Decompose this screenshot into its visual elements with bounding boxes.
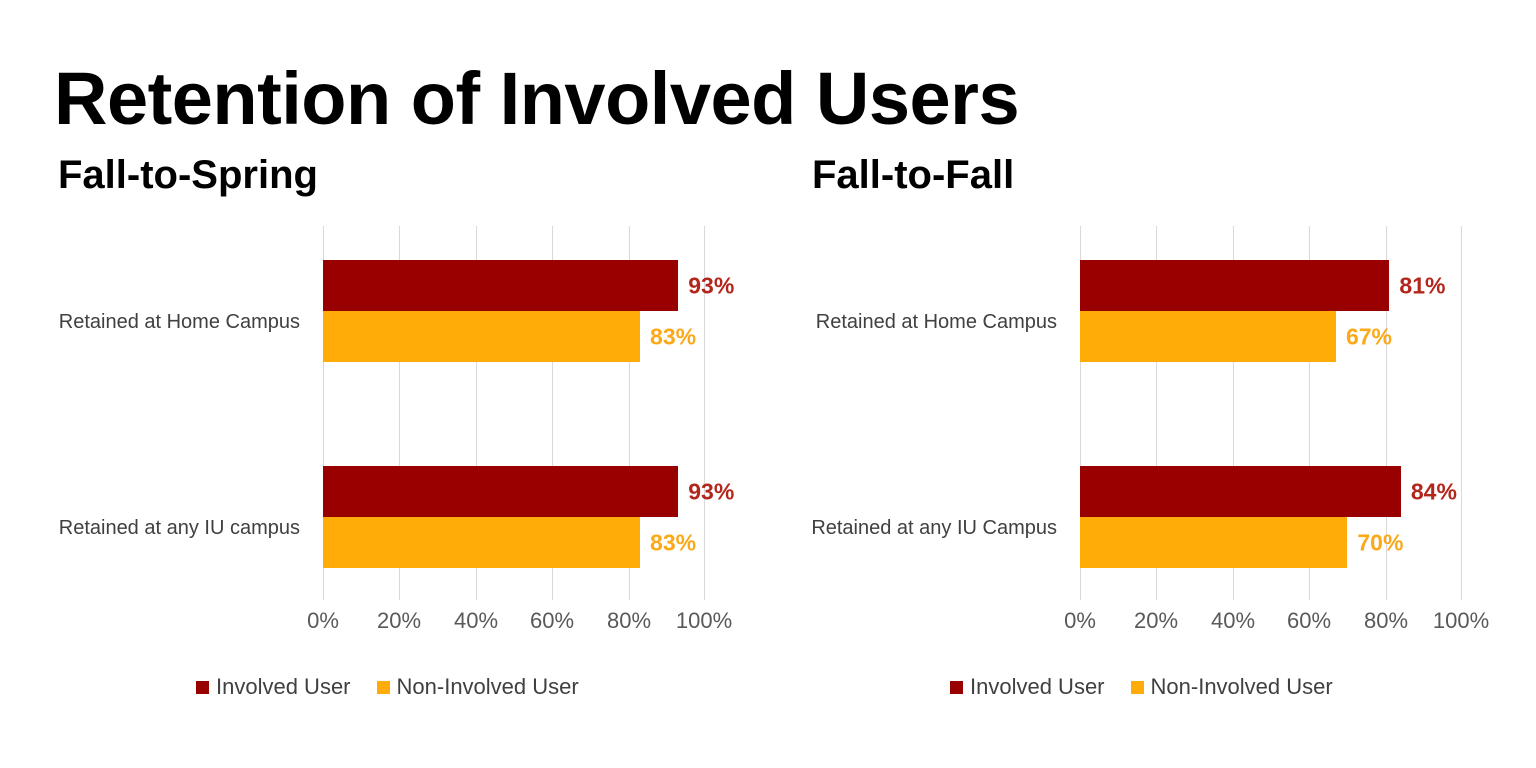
bar-row: 83% xyxy=(323,517,705,568)
bar-involved[interactable] xyxy=(1080,260,1389,311)
category-label: Retained at Home Campus xyxy=(59,311,300,334)
bar-row: 81% xyxy=(1080,260,1462,311)
legend-label: Non-Involved User xyxy=(397,674,579,700)
bar-row: 83% xyxy=(323,311,705,362)
bar-value-label: 81% xyxy=(1399,272,1445,299)
bar-non-involved[interactable] xyxy=(323,311,640,362)
bar-group: 93% 83% xyxy=(323,466,705,568)
legend-swatch-icon xyxy=(950,681,963,694)
bar-involved[interactable] xyxy=(1080,466,1401,517)
bar-value-label: 93% xyxy=(688,478,734,505)
x-tick-label: 40% xyxy=(1211,608,1255,634)
chart-subtitle-fall-to-fall: Fall-to-Fall xyxy=(812,155,1014,195)
bar-value-label: 70% xyxy=(1357,529,1403,556)
bar-non-involved[interactable] xyxy=(323,517,640,568)
legend-swatch-icon xyxy=(196,681,209,694)
legend-label: Involved User xyxy=(970,674,1105,700)
bar-involved[interactable] xyxy=(323,260,678,311)
bar-row: 93% xyxy=(323,260,705,311)
legend-label: Involved User xyxy=(216,674,351,700)
x-tick-label: 0% xyxy=(1064,608,1096,634)
bar-involved[interactable] xyxy=(323,466,678,517)
bar-group: 84% 70% xyxy=(1080,466,1462,568)
chart-fall-to-fall: Retained at Home Campus Retained at any … xyxy=(775,226,1520,716)
page-title: Retention of Involved Users xyxy=(54,62,1019,136)
bar-value-label: 83% xyxy=(650,323,696,350)
legend-item-involved-user[interactable]: Involved User xyxy=(950,674,1105,700)
x-axis-ticks: 0% 20% 40% 60% 80% 100% xyxy=(1080,608,1462,642)
bar-value-label: 67% xyxy=(1346,323,1392,350)
legend-item-non-involved-user[interactable]: Non-Involved User xyxy=(377,674,579,700)
plot-area: 93% 83% 93% 83% 0% 20% xyxy=(323,226,705,600)
bar-value-label: 83% xyxy=(650,529,696,556)
bar-row: 93% xyxy=(323,466,705,517)
legend-item-non-involved-user[interactable]: Non-Involved User xyxy=(1131,674,1333,700)
x-tick-label: 80% xyxy=(607,608,651,634)
x-tick-label: 80% xyxy=(1364,608,1408,634)
x-tick-label: 20% xyxy=(377,608,421,634)
bar-row: 84% xyxy=(1080,466,1462,517)
x-tick-label: 60% xyxy=(1287,608,1331,634)
x-tick-label: 20% xyxy=(1134,608,1178,634)
bar-group: 93% 83% xyxy=(323,260,705,362)
x-tick-label: 100% xyxy=(1433,608,1489,634)
chart-legend: Involved User Non-Involved User xyxy=(196,674,579,700)
plot-area: 81% 67% 84% 70% 0% 20% xyxy=(1080,226,1462,600)
legend-swatch-icon xyxy=(1131,681,1144,694)
chart-fall-to-spring: Retained at Home Campus Retained at any … xyxy=(20,226,760,716)
chart-subtitle-fall-to-spring: Fall-to-Spring xyxy=(58,155,318,195)
legend-label: Non-Involved User xyxy=(1151,674,1333,700)
bar-non-involved[interactable] xyxy=(1080,517,1347,568)
category-label: Retained at any IU campus xyxy=(59,517,300,540)
x-tick-label: 60% xyxy=(530,608,574,634)
chart-legend: Involved User Non-Involved User xyxy=(950,674,1333,700)
bar-group: 81% 67% xyxy=(1080,260,1462,362)
bar-value-label: 93% xyxy=(688,272,734,299)
category-label: Retained at Home Campus xyxy=(816,311,1057,334)
bar-row: 70% xyxy=(1080,517,1462,568)
legend-swatch-icon xyxy=(377,681,390,694)
x-tick-label: 40% xyxy=(454,608,498,634)
bar-non-involved[interactable] xyxy=(1080,311,1336,362)
legend-item-involved-user[interactable]: Involved User xyxy=(196,674,351,700)
category-label: Retained at any IU Campus xyxy=(811,517,1057,540)
bar-value-label: 84% xyxy=(1411,478,1457,505)
bar-row: 67% xyxy=(1080,311,1462,362)
x-axis-ticks: 0% 20% 40% 60% 80% 100% xyxy=(323,608,705,642)
x-tick-label: 0% xyxy=(307,608,339,634)
slide-canvas: Retention of Involved Users Fall-to-Spri… xyxy=(0,0,1536,768)
x-tick-label: 100% xyxy=(676,608,732,634)
